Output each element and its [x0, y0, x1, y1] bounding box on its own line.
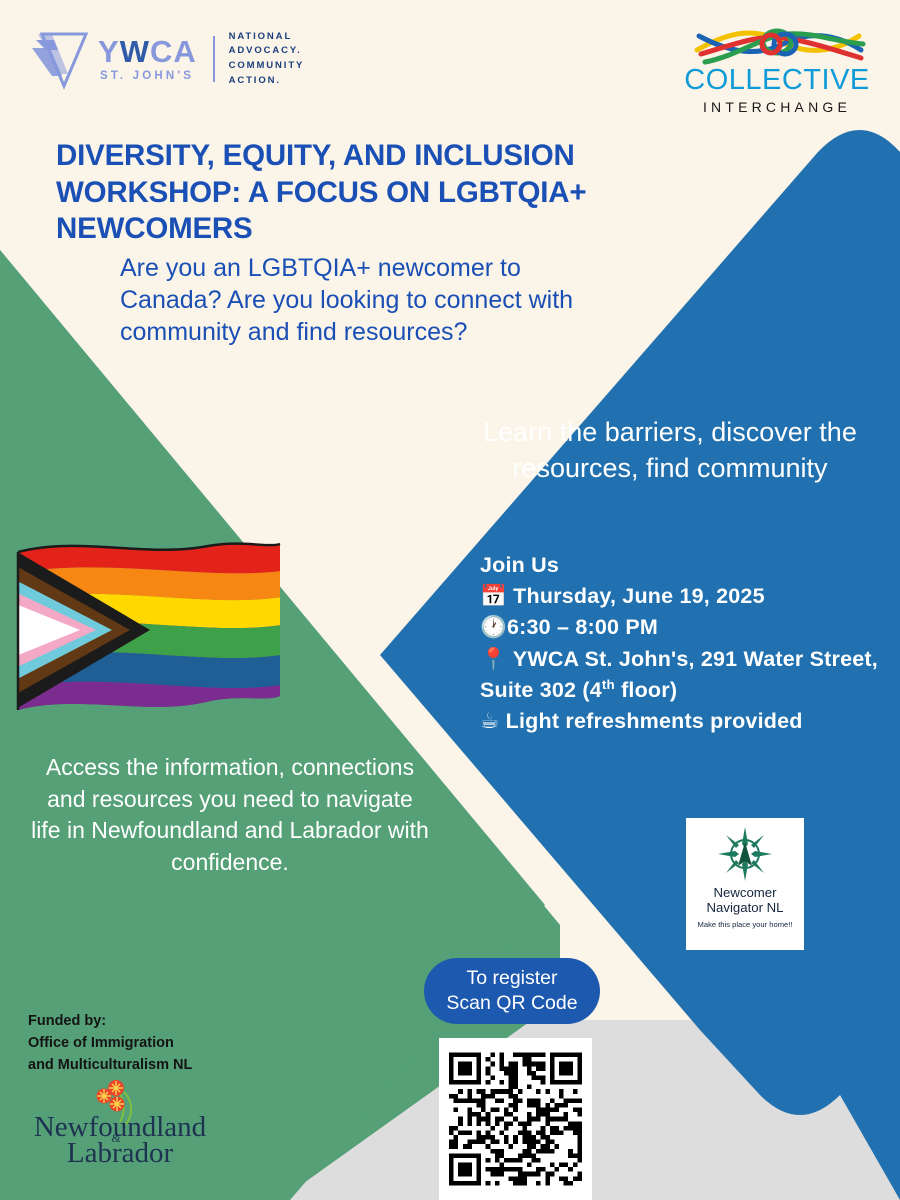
ywca-tagline: NATIONAL ADVOCACY. COMMUNITY ACTION.: [229, 30, 358, 89]
newcomer-navigator-tagline: Make this place your home!!: [698, 920, 793, 929]
nn-title-line-2: Navigator NL: [707, 901, 784, 916]
nl-logo-line-2: Labrador: [67, 1137, 174, 1166]
newfoundland-labrador-logo: Newfoundland & Labrador: [20, 1078, 220, 1166]
ywca-location: ST. JOHN'S: [100, 70, 194, 82]
intro-question: Are you an LGBTQIA+ newcomer to Canada? …: [120, 252, 610, 348]
event-time: 6:30 – 8:00 PM: [507, 615, 658, 639]
register-line-2: Scan QR Code: [446, 991, 577, 1016]
register-line-1: To register: [466, 966, 557, 991]
funder-line-3: and Multiculturalism NL: [28, 1054, 278, 1076]
event-location-part1: YWCA St. John's, 291 Water Street, Suite…: [480, 647, 878, 703]
qr-code[interactable]: [439, 1038, 592, 1200]
clock-icon: 🕐: [480, 615, 507, 640]
pin-icon: 📍: [480, 647, 507, 672]
collective-interchange-logo: COLLECTIVE INTERCHANGE: [682, 20, 872, 115]
ywca-wordmark: YWCA: [98, 36, 197, 68]
ywca-letter-a: A: [173, 34, 196, 69]
calendar-icon: 📅: [480, 584, 507, 609]
knot-icon: [687, 20, 867, 68]
funder-line-1: Funded by:: [28, 1010, 278, 1032]
ywca-letter-y: Y: [98, 34, 120, 69]
pride-flag-icon: [8, 534, 288, 729]
join-us-heading: Join Us: [480, 550, 880, 581]
ywca-divider: [213, 36, 215, 82]
collective-name: COLLECTIVE: [682, 66, 872, 95]
funder-credit: Funded by: Office of Immigration and Mul…: [28, 1010, 278, 1076]
pitcher-plant-icon: Newfoundland & Labrador: [20, 1078, 220, 1166]
event-location-part2: floor): [615, 678, 677, 702]
collective-subtitle: INTERCHANGE: [682, 99, 872, 115]
refreshments-text: Light refreshments provided: [506, 709, 803, 733]
event-time-row: 🕐6:30 – 8:00 PM: [480, 612, 880, 644]
ywca-tagline-line-1: NATIONAL ADVOCACY.: [229, 30, 358, 59]
newcomer-navigator-title: Newcomer Navigator NL: [707, 886, 784, 916]
green-panel-copy: Access the information, connections and …: [30, 752, 430, 879]
ywca-logo: YWCA ST. JOHN'S NATIONAL ADVOCACY. COMMU…: [28, 24, 358, 94]
ywca-triangle-icon: [28, 28, 88, 90]
qr-code-icon: [449, 1048, 582, 1190]
value-proposition: Learn the barriers, discover the resourc…: [455, 415, 885, 487]
nn-title-line-1: Newcomer: [707, 886, 784, 901]
ywca-letter-c: C: [150, 34, 173, 69]
page-title: DIVERSITY, EQUITY, AND INCLUSION WORKSHO…: [56, 138, 636, 248]
event-date-row: 📅 Thursday, June 19, 2025: [480, 581, 880, 613]
refreshments-row: ☕ Light refreshments provided: [480, 706, 880, 738]
funder-line-2: Office of Immigration: [28, 1032, 278, 1054]
progress-pride-flag: [8, 534, 288, 729]
event-location-row: 📍 YWCA St. John's, 291 Water Street, Sui…: [480, 644, 880, 706]
register-cta[interactable]: To register Scan QR Code: [424, 958, 600, 1024]
compass-icon: [717, 826, 773, 882]
ywca-letter-w: W: [120, 34, 150, 69]
ywca-tagline-line-2: COMMUNITY ACTION.: [229, 59, 358, 88]
event-date: Thursday, June 19, 2025: [513, 584, 765, 608]
poster-canvas: YWCA ST. JOHN'S NATIONAL ADVOCACY. COMMU…: [0, 0, 900, 1200]
newcomer-navigator-logo: Newcomer Navigator NL Make this place yo…: [686, 818, 804, 950]
coffee-icon: ☕: [480, 709, 499, 734]
event-details: Join Us 📅 Thursday, June 19, 2025 🕐6:30 …: [480, 550, 880, 737]
event-location-ordinal: th: [602, 677, 615, 692]
